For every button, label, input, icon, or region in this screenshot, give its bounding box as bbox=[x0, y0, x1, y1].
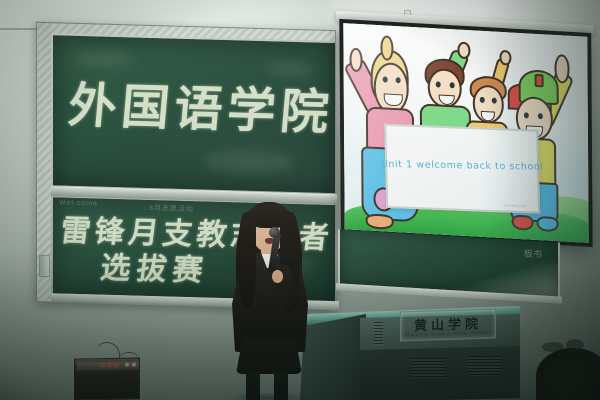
chalkboard-upper-panel: 外国语学院 bbox=[53, 35, 335, 193]
wall-shadow-bottom bbox=[0, 250, 600, 400]
classroom-scene: 外国语学院 Wel come 3月志愿活动 雷锋月支教志愿者 选拔赛 bbox=[0, 0, 600, 400]
chalkboard-upper-text: 外国语学院 bbox=[66, 66, 335, 143]
microphone-head[interactable] bbox=[269, 227, 280, 238]
speaker-eye-left bbox=[258, 225, 263, 228]
